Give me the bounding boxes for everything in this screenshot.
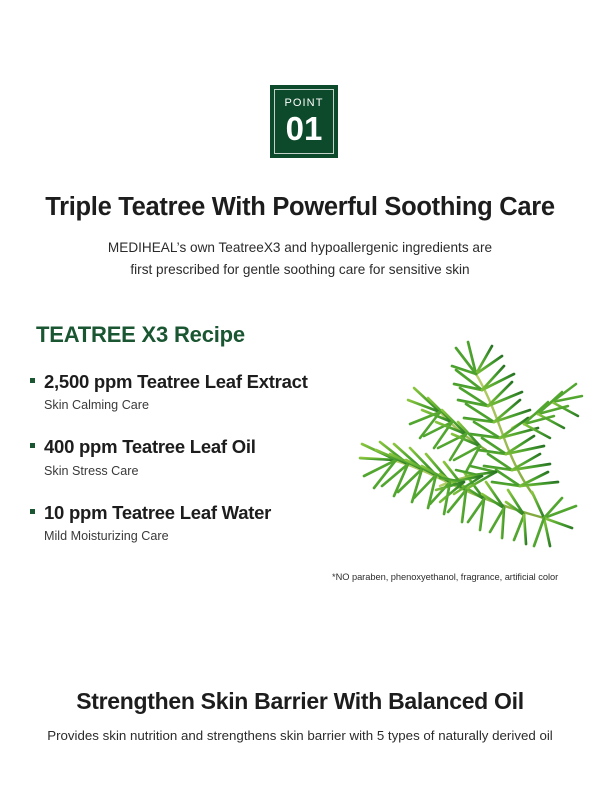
- ingredient-description: Skin Calming Care: [44, 398, 360, 412]
- list-item: 400 ppm Teatree Leaf Oil Skin Stress Car…: [30, 436, 360, 477]
- ingredient-name: 10 ppm Teatree Leaf Water: [44, 502, 271, 523]
- point-badge: POINT 01: [270, 85, 338, 158]
- ingredient-heading: 2,500 ppm Teatree Leaf Extract: [30, 371, 360, 392]
- section-two-headline: Strengthen Skin Barrier With Balanced Oi…: [0, 688, 600, 715]
- ingredient-name: 2,500 ppm Teatree Leaf Extract: [44, 371, 308, 392]
- section-one-headline: Triple Teatree With Powerful Soothing Ca…: [0, 193, 600, 222]
- list-item: 10 ppm Teatree Leaf Water Mild Moisturiz…: [30, 502, 360, 543]
- section-one-subline-line1: MEDIHEAL’s own TeatreeX3 and hypoallerge…: [0, 237, 600, 259]
- ingredient-description: Skin Stress Care: [44, 464, 360, 478]
- section-one-subline: MEDIHEAL’s own TeatreeX3 and hypoallerge…: [0, 237, 600, 281]
- list-item: 2,500 ppm Teatree Leaf Extract Skin Calm…: [30, 371, 360, 412]
- photo-note: *NO paraben, phenoxyethanol, fragrance, …: [332, 572, 588, 582]
- recipe-title: TEATREE X3 Recipe: [36, 322, 245, 348]
- teatree-sprig-photo: [336, 340, 588, 572]
- point-badge-label: POINT: [284, 98, 323, 109]
- section-one-subline-line2: first prescribed for gentle soothing car…: [0, 259, 600, 281]
- ingredient-list: 2,500 ppm Teatree Leaf Extract Skin Calm…: [30, 371, 360, 543]
- square-bullet-icon: [30, 378, 35, 383]
- square-bullet-icon: [30, 443, 35, 448]
- ingredient-heading: 400 ppm Teatree Leaf Oil: [30, 436, 360, 457]
- ingredient-name: 400 ppm Teatree Leaf Oil: [44, 436, 256, 457]
- section-two-subline: Provides skin nutrition and strengthens …: [0, 728, 600, 743]
- ingredient-description: Mild Moisturizing Care: [44, 529, 360, 543]
- point-badge-number: 01: [286, 112, 323, 147]
- ingredient-heading: 10 ppm Teatree Leaf Water: [30, 502, 360, 523]
- square-bullet-icon: [30, 509, 35, 514]
